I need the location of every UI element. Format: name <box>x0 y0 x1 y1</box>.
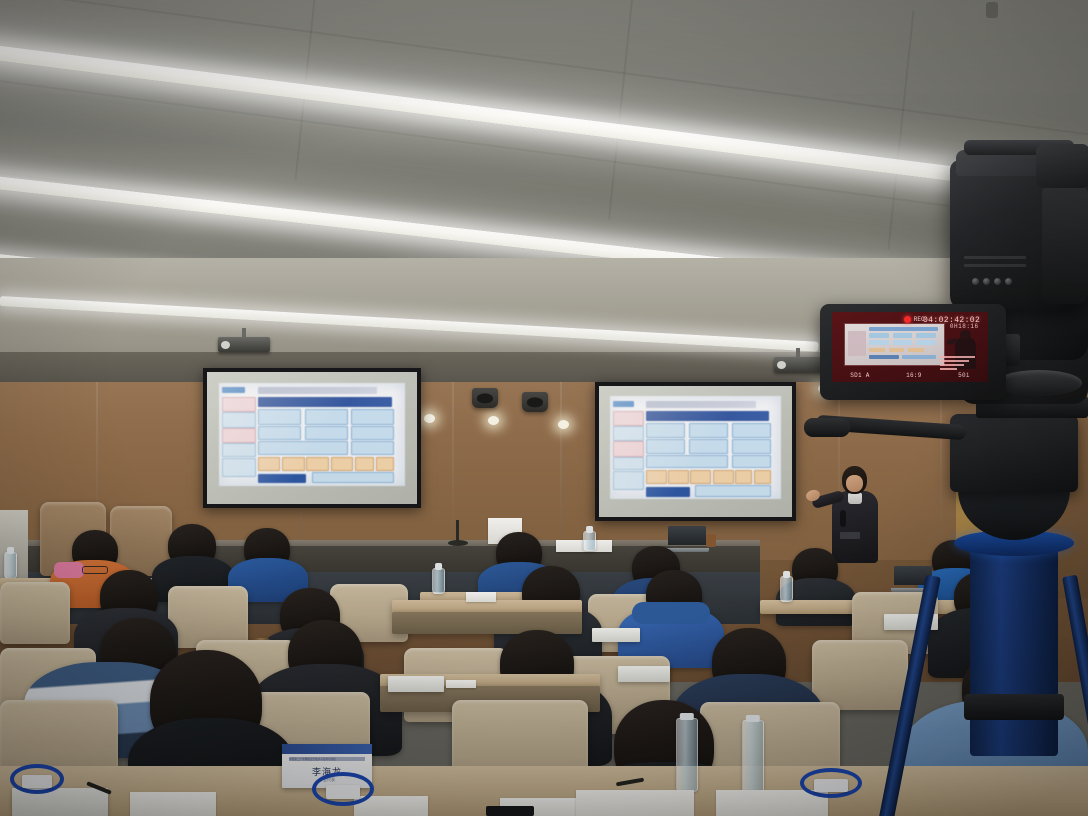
slide-right <box>610 396 782 498</box>
projector-lens <box>777 361 786 369</box>
handout-paper <box>130 792 216 816</box>
left-projection-screen <box>203 368 421 508</box>
handout-booklet <box>592 628 640 642</box>
audience-chair <box>168 586 248 648</box>
laptop-on-front-desk <box>668 526 706 552</box>
camera-button[interactable] <box>994 278 1001 285</box>
row3-desk-panel <box>392 612 582 634</box>
conference-room-photo: 中国第二十次网络安全技术与应用培训班 李海龙 参会代表 <box>0 0 1088 816</box>
camera-vent <box>964 264 1026 267</box>
audience-scarf <box>54 562 84 578</box>
lcd-slide-block <box>916 333 936 338</box>
tripod-leg <box>878 575 940 816</box>
camera-viewfinder[interactable] <box>1036 144 1088 188</box>
camera-rig: REC 04:02:42:02 0H18:16 SD1 A 16:9 50i <box>800 138 1088 816</box>
lcd-slide-block <box>916 340 936 344</box>
lcd-slide-footer <box>902 355 935 359</box>
laptop-lid <box>668 526 706 545</box>
lcd-slide-band <box>869 327 938 331</box>
lcd-status-item: 16:9 <box>906 372 922 379</box>
handout-booklet <box>618 666 670 682</box>
smartphone <box>486 806 534 816</box>
lcd-slide-block <box>908 348 924 352</box>
bottle-cap <box>680 713 694 720</box>
camera-button[interactable] <box>1005 278 1012 285</box>
lanyard <box>312 772 374 806</box>
handout-booklet <box>388 676 444 692</box>
lcd-status-item: 50i <box>958 372 970 379</box>
bottle-cap <box>586 526 594 533</box>
lcd-slide-block <box>869 348 885 352</box>
bottle-cap <box>783 571 791 578</box>
front-desk-bottle <box>583 531 596 551</box>
lcd-status-bar: SD1 A 16:9 50i <box>832 372 988 379</box>
lcd-audio-meter <box>940 356 981 372</box>
eyeglasses-icon <box>82 566 108 574</box>
handout-paper <box>446 680 476 688</box>
speaker-cone <box>477 394 493 403</box>
screen-surface <box>207 372 417 504</box>
lcd-recording-indicator: REC <box>904 316 925 323</box>
handout-paper <box>466 592 496 602</box>
water-bottle <box>676 718 698 792</box>
record-dot-icon <box>904 316 911 323</box>
wall-downlight <box>558 420 569 429</box>
pan-handle-grip <box>804 418 850 437</box>
audience-chair <box>0 582 70 644</box>
right-projection-screen <box>595 382 796 521</box>
lcd-slide-block <box>893 340 913 344</box>
camera-button-row[interactable] <box>972 278 1012 285</box>
tripod-column <box>970 546 1058 756</box>
wall-downlight <box>488 416 499 425</box>
projector-glare <box>219 383 406 486</box>
lcd-slide-sidebar <box>848 331 866 355</box>
wall-speaker-right <box>522 392 548 412</box>
ceiling-projector-left <box>218 328 270 354</box>
smoke-detector <box>986 2 998 18</box>
tripod-leg <box>1062 575 1088 816</box>
projector-glare <box>610 396 782 498</box>
front-desk-cup <box>706 534 716 547</box>
slide-left <box>219 383 406 486</box>
bottle-cap <box>435 563 443 570</box>
desk-microphone-base <box>448 540 468 546</box>
lanyard <box>10 764 64 794</box>
water-bottle <box>742 720 764 794</box>
lcd-slide-block <box>889 348 905 352</box>
water-bottle <box>432 568 445 594</box>
tripod-clamp <box>964 694 1064 720</box>
desk-microphone-stand <box>456 520 459 542</box>
lcd-status-item: SD1 A <box>850 372 870 379</box>
screen-surface <box>599 386 792 517</box>
lcd-duration: 0H18:16 <box>950 323 979 330</box>
water-bottle <box>780 576 793 602</box>
lcd-slide-block <box>893 333 913 338</box>
lcd-slide-block <box>869 333 889 338</box>
camera-button[interactable] <box>972 278 979 285</box>
lens-focus-ring <box>996 370 1082 396</box>
lcd-slide-footer <box>869 355 898 359</box>
hood-collar <box>632 602 710 624</box>
handout-paper <box>576 790 694 816</box>
lcd-slide-block <box>869 340 889 344</box>
bottle-cap <box>7 547 15 554</box>
wall-downlight <box>424 414 435 423</box>
lcd-presenter-head <box>960 330 971 339</box>
lcd-projected-slide-preview <box>844 323 944 366</box>
tripod-bowl <box>958 484 1070 540</box>
lanyard-badge <box>22 775 52 788</box>
water-bottle <box>4 552 17 579</box>
fluid-head <box>950 414 1078 492</box>
camera-button[interactable] <box>983 278 990 285</box>
placard-header-band <box>282 744 372 754</box>
camera-vent <box>964 256 1026 259</box>
lanyard-badge <box>326 785 361 799</box>
camera-lcd-screen[interactable]: REC 04:02:42:02 0H18:16 SD1 A 16:9 50i <box>832 312 988 382</box>
bottle-cap <box>746 715 760 722</box>
speaker-cone <box>527 398 543 407</box>
placard-organization-line: 中国第二十次网络安全技术与应用培训班 <box>289 757 365 761</box>
camera-rear-module <box>1042 184 1088 304</box>
wall-speaker-left <box>472 388 498 408</box>
